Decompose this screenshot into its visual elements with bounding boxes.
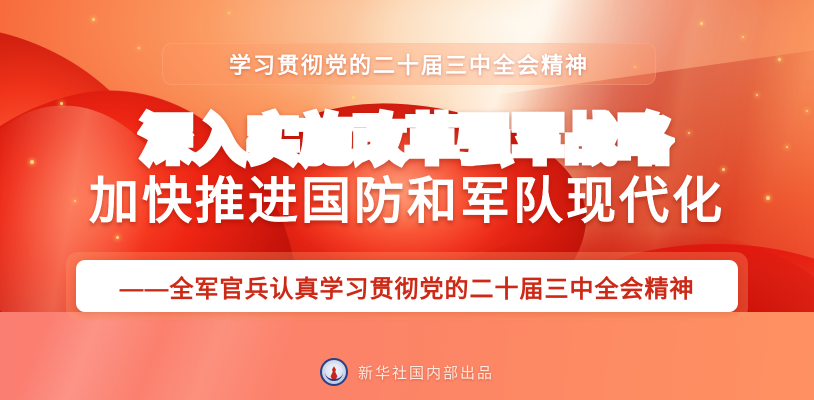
footer-text: 新华社国内部出品	[358, 362, 494, 383]
gold-particle	[116, 236, 119, 239]
emblem-arc	[325, 372, 342, 381]
headline-line-2-wrap: 加快推进国防和军队现代化	[0, 171, 814, 232]
xinhua-emblem-icon	[320, 358, 348, 386]
gold-particle	[92, 18, 95, 21]
gold-particle	[742, 36, 744, 38]
subtitle-text: ——全军官兵认真学习贯彻党的二十届三中全会精神	[120, 269, 695, 304]
poster-canvas: 学习贯彻党的二十届三中全会精神 深入实施改革强军战略 加快推进国防和军队现代化 …	[0, 0, 814, 400]
gold-particle	[60, 102, 63, 105]
headline-line-2: 加快推进国防和军队现代化	[89, 171, 725, 232]
footer: 新华社国内部出品	[0, 358, 814, 386]
headline-line-1: 深入实施改革强军战略	[142, 110, 672, 171]
top-banner-text: 学习贯彻党的二十届三中全会精神	[229, 48, 589, 80]
headline-line-1-wrap: 深入实施改革强军战略	[0, 110, 814, 171]
gold-particle	[700, 22, 703, 25]
gold-particle	[138, 47, 140, 49]
subtitle-card: ——全军官兵认真学习贯彻党的二十届三中全会精神	[76, 260, 738, 312]
gold-particle	[778, 58, 781, 61]
gold-particle	[756, 94, 758, 96]
headline-block: 深入实施改革强军战略 加快推进国防和军队现代化	[0, 110, 814, 232]
gold-particle	[352, 96, 355, 99]
gold-particle	[228, 12, 230, 14]
coral-band-streaks	[0, 312, 814, 400]
top-banner: 学习贯彻党的二十届三中全会精神	[162, 43, 656, 85]
